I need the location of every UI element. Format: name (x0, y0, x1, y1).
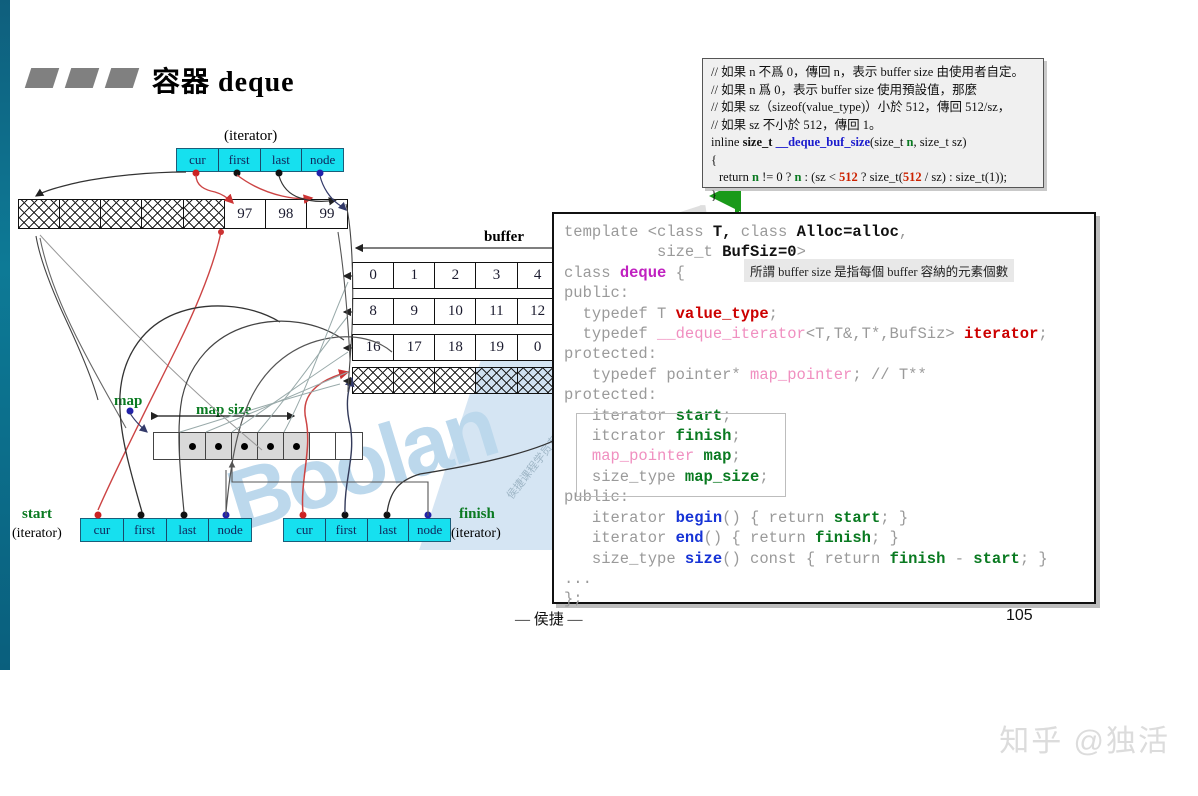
comment-line: // 如果 n 不爲 0，傳回 n，表示 buffer size 由使用者自定。 (711, 64, 1035, 82)
comment-line: // 如果 n 爲 0，表示 buffer size 使用預設值，那麼 (711, 82, 1035, 100)
map-cell (206, 433, 232, 459)
finish-iterator-field-last: last (368, 519, 410, 541)
top-buffer-cell: 99 (307, 200, 347, 228)
start-sublabel: (iterator) (12, 526, 62, 542)
buffer-cell: 1 (394, 263, 435, 288)
map-cell (310, 433, 336, 459)
top-iterator-field-first: first (219, 149, 261, 171)
buffer-cell (435, 368, 476, 393)
title-decoration-bars (28, 68, 146, 88)
buffer-cell: 18 (435, 335, 476, 360)
buffer-cell (476, 368, 517, 393)
watermark-zhihu: 知乎 @独活 (999, 716, 1170, 760)
top-iterator-box: curfirstlastnode (176, 148, 344, 172)
start-iterator-field-last: last (167, 519, 210, 541)
comment-signature: inline size_t __deque_buf_size(size_t n,… (711, 134, 1035, 152)
top-iterator-field-node: node (302, 149, 343, 171)
left-accent-strip (0, 0, 10, 670)
buffer-cell: 2 (435, 263, 476, 288)
top-iterator-field-cur: cur (177, 149, 219, 171)
top-buffer-cell (184, 200, 225, 228)
buffer-cell: 19 (476, 335, 517, 360)
map-cell (284, 433, 310, 459)
map-label: map (114, 393, 142, 410)
buffer-cell: 9 (394, 299, 435, 324)
top-buffer-row: 979899 (18, 199, 348, 229)
top-iterator-label: (iterator) (224, 128, 277, 145)
buffer-cell: 16 (353, 335, 394, 360)
top-buffer-cell: 98 (266, 200, 307, 228)
comment-brace-open: { (711, 152, 1035, 170)
map-cell (336, 433, 362, 459)
start-iterator-box: curfirstlastnode (80, 518, 252, 542)
buffer-cell: 3 (476, 263, 517, 288)
comment-brace-close: } (711, 187, 1035, 205)
comment-line: // 如果 sz（sizeof(value_type)）小於 512，傳回 51… (711, 99, 1035, 117)
map-cell (180, 433, 206, 459)
comment-box: // 如果 n 不爲 0，傳回 n，表示 buffer size 由使用者自定。… (702, 58, 1044, 188)
buffer-cell: 8 (353, 299, 394, 324)
footer-page-number: 105 (1006, 607, 1033, 625)
top-buffer-cell (142, 200, 183, 228)
top-iterator-field-last: last (261, 149, 303, 171)
code-inner-frame (576, 413, 786, 497)
start-iterator-field-cur: cur (81, 519, 124, 541)
buffer-cell (353, 368, 394, 393)
top-buffer-cell (60, 200, 101, 228)
buffer-cell (394, 368, 435, 393)
top-buffer-cell: 97 (225, 200, 266, 228)
comment-return-line: return n != 0 ? n : (sz < 512 ? size_t(5… (711, 169, 1035, 187)
buffer-label: buffer (484, 229, 524, 246)
finish-iterator-field-node: node (409, 519, 450, 541)
slide-page: 容器 deque Boolan 侯捷课程学员专用，请勿翻录与翻印 侵权 知乎 @… (0, 0, 1198, 796)
finish-label: finish (459, 506, 495, 523)
map-cell (154, 433, 180, 459)
page-title: 容器 deque (152, 60, 295, 100)
finish-iterator-box: curfirstlastnode (283, 518, 451, 542)
buffer-cell: 0 (353, 263, 394, 288)
map-cell (258, 433, 284, 459)
finish-iterator-field-first: first (326, 519, 368, 541)
start-iterator-field-first: first (124, 519, 167, 541)
start-label: start (22, 506, 52, 523)
comment-line: // 如果 sz 不小於 512，傳回 1。 (711, 117, 1035, 135)
map-row (153, 432, 363, 460)
finish-iterator-field-cur: cur (284, 519, 326, 541)
start-iterator-field-node: node (209, 519, 251, 541)
footer-author: — 侯捷 — (515, 608, 583, 629)
buffer-cell: 11 (476, 299, 517, 324)
map-size-label: map size (196, 402, 251, 419)
map-cell (232, 433, 258, 459)
top-buffer-cell (101, 200, 142, 228)
buffer-cell: 17 (394, 335, 435, 360)
finish-sublabel: (iterator) (451, 526, 501, 542)
top-buffer-cell (19, 200, 60, 228)
buffer-size-annotation: 所謂 buffer size 是指每個 buffer 容納的元素個數 (744, 259, 1014, 282)
buffer-cell: 10 (435, 299, 476, 324)
